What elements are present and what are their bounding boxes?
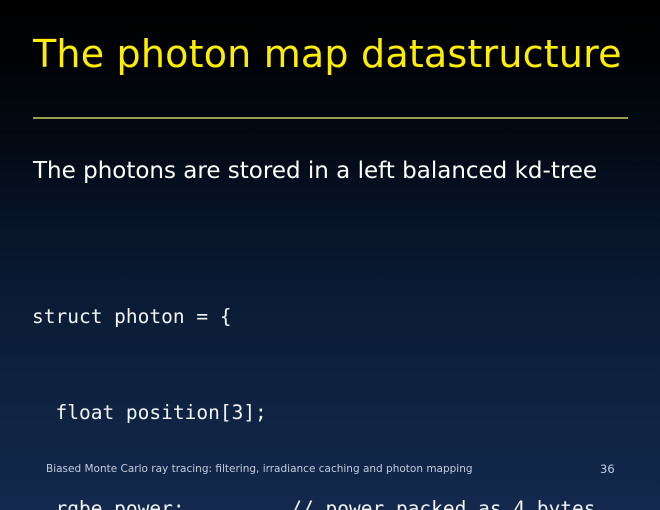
code-line: rgbe power; // power packed as 4 bytes [32, 493, 658, 510]
slide-lede-text: The photons are stored in a left balance… [33, 155, 643, 187]
code-line: struct photon = { [32, 301, 658, 333]
slide-canvas: The photon map datastructure The photons… [0, 0, 660, 510]
page-title: The photon map datastructure [33, 28, 633, 80]
code-line: float position[3]; [32, 397, 658, 429]
page-number: 36 [600, 462, 634, 476]
footer-course-title: Biased Monte Carlo ray tracing: filterin… [46, 462, 473, 476]
title-divider [33, 117, 628, 119]
